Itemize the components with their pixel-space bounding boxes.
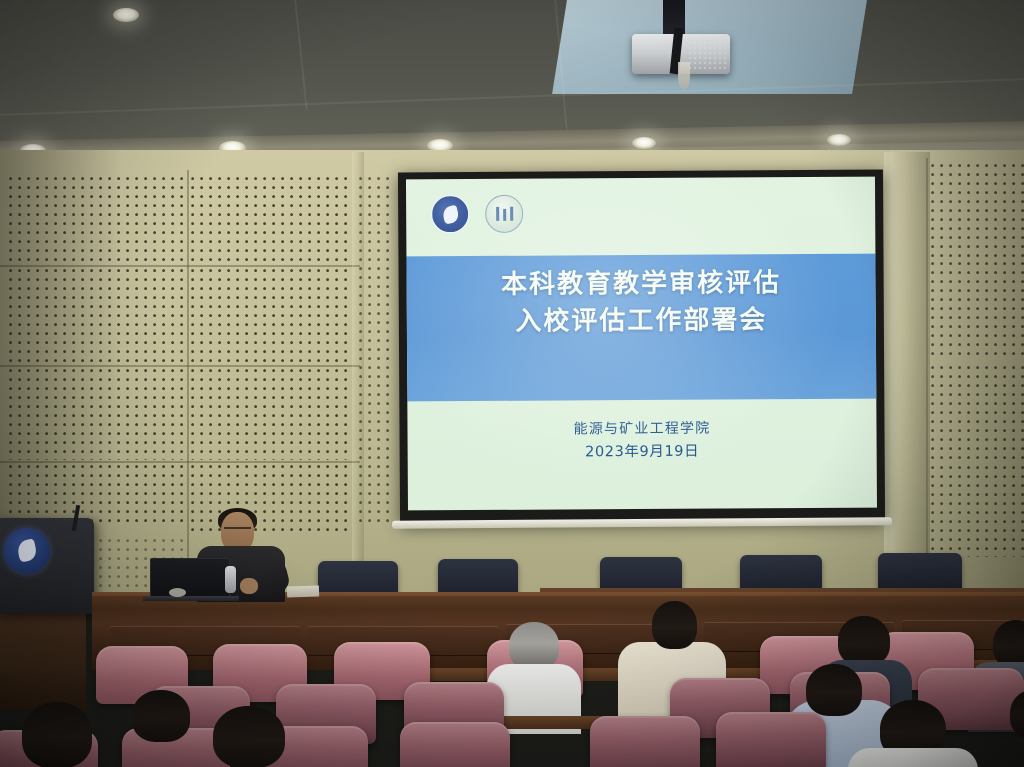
acoustic-panel xyxy=(190,176,352,264)
acoustic-panel xyxy=(190,464,352,534)
projector-vent xyxy=(688,36,726,70)
acoustic-panel xyxy=(190,268,352,364)
audience-person-torso xyxy=(848,748,978,767)
acoustic-panel xyxy=(190,368,352,460)
ceiling-downlight xyxy=(113,8,139,22)
audience-person-head xyxy=(993,620,1024,668)
panel-seam xyxy=(187,170,189,590)
auditorium-photo: 本科教育教学审核评估 入校评估工作部署会 能源与矿业工程学院 2023年9月19… xyxy=(0,0,1024,767)
slide-subtitle: 能源与矿业工程学院 xyxy=(407,417,876,443)
ceiling-downlight xyxy=(827,134,851,146)
slide-date: 2023年9月19日 xyxy=(408,440,877,467)
ceiling-downlight xyxy=(632,137,656,149)
podium-base xyxy=(0,600,86,710)
school-emblem-icon xyxy=(485,195,523,233)
audience-person-head xyxy=(213,706,285,767)
slide-logos xyxy=(431,195,523,234)
university-emblem-icon xyxy=(431,195,469,233)
computer-mouse-icon[interactable] xyxy=(169,588,186,597)
slide-title-line2: 入校评估工作部署会 xyxy=(407,301,876,341)
projection-screen[interactable]: 本科教育教学审核评估 入校评估工作部署会 能源与矿业工程学院 2023年9月19… xyxy=(398,170,885,525)
slide-title-line1: 本科教育教学审核评估 xyxy=(407,265,876,305)
slide-title: 本科教育教学审核评估 入校评估工作部署会 xyxy=(407,265,876,342)
audience-person-head xyxy=(838,616,890,666)
wall-pilaster xyxy=(352,152,364,592)
audience-person-head xyxy=(509,622,559,670)
slide-content: 本科教育教学审核评估 入校评估工作部署会 能源与矿业工程学院 2023年9月19… xyxy=(406,177,877,511)
projector-cable xyxy=(678,62,690,90)
laptop-base xyxy=(143,596,239,601)
documents-on-desk xyxy=(287,585,319,597)
slide-subtitle-block: 能源与矿业工程学院 2023年9月19日 xyxy=(407,417,876,467)
presenter-glasses-icon xyxy=(224,527,251,534)
handheld-microphone-icon[interactable] xyxy=(225,566,236,593)
wall-shadow-right xyxy=(890,150,1024,600)
podium-university-logo-icon xyxy=(4,528,50,574)
presenter-laptop[interactable] xyxy=(150,558,230,598)
audience-person-head xyxy=(652,601,697,649)
audience-seat[interactable] xyxy=(716,712,826,767)
audience-seat[interactable] xyxy=(400,722,510,767)
presenter-hand xyxy=(240,578,258,594)
audience-person-head xyxy=(132,690,190,742)
audience-person-head xyxy=(806,664,862,716)
audience-seat[interactable] xyxy=(590,716,700,767)
audience-person-head xyxy=(22,702,92,767)
